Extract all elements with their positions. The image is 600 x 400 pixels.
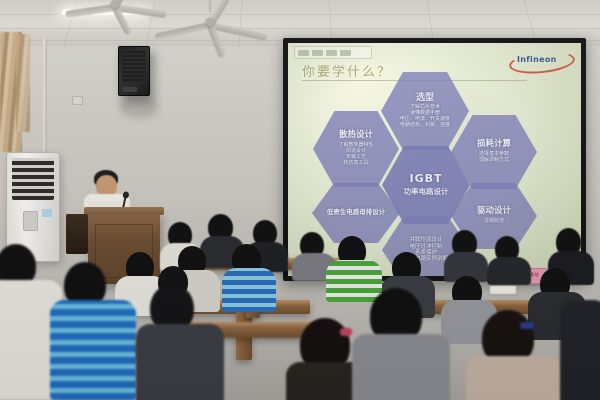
- wall-outlet: [72, 96, 83, 105]
- audience-body: [487, 257, 531, 285]
- hair-tie-icon: [340, 328, 352, 336]
- speaker-shadow: [120, 96, 158, 118]
- audience-body-front: [560, 300, 600, 400]
- screen-vignette: [288, 43, 581, 276]
- audience-body-front: [50, 300, 136, 400]
- audience-body: [222, 268, 276, 312]
- wall-speaker: [118, 46, 150, 96]
- audience-body-striped: [326, 260, 382, 302]
- projection-screen: 你要学什么？ Infineon 选型 了解芯片技术 读懂数据手册 电压、电流、开…: [283, 38, 586, 281]
- audience-body-front: [136, 324, 224, 400]
- projected-slide: 你要学什么？ Infineon 选型 了解芯片技术 读懂数据手册 电压、电流、开…: [288, 43, 581, 276]
- podium-side: [66, 214, 88, 254]
- audience-body-front: [352, 334, 450, 400]
- audience-body-front: [466, 356, 562, 400]
- wall-pipe: [42, 38, 47, 156]
- hair-clip-icon: [520, 322, 534, 329]
- lecture-hall-photo: 你要学什么？ Infineon 选型 了解芯片技术 读懂数据手册 电压、电流、开…: [0, 0, 600, 400]
- desk-paper: [490, 286, 516, 294]
- window-curtain: [16, 34, 30, 132]
- podium-top: [84, 207, 164, 215]
- ceiling-fan: [150, 0, 270, 46]
